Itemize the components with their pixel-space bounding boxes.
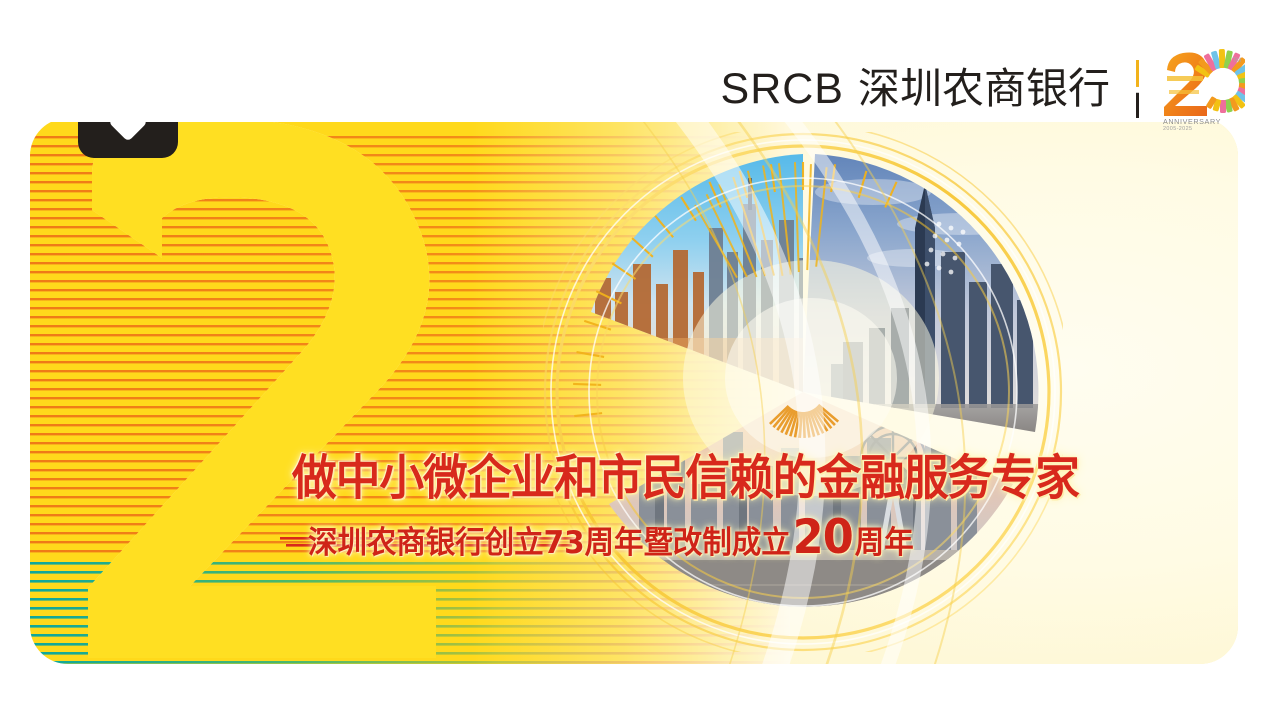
brand-latin-name: SRCB bbox=[721, 68, 844, 111]
anniversary-emblem-icon: TM ANNIVERSARY 2005-2025 bbox=[1159, 48, 1245, 130]
subtitle-prefix: 深圳农商银行创立73周年暨改制成立 bbox=[308, 528, 791, 559]
subtitle-suffix: 周年 bbox=[855, 528, 914, 559]
anniversary-poster: 做中小微企业和市民信赖的金融服务专家 深圳农商银行创立73周年暨改制成立 20 … bbox=[0, 0, 1267, 713]
subtitle-number: 20 bbox=[791, 514, 855, 561]
emblem-anniversary-label: ANNIVERSARY bbox=[1163, 117, 1221, 126]
brand-lockup: SRCB 深圳农商银行 bbox=[721, 48, 1245, 130]
gold-nugget-shape bbox=[500, 662, 685, 664]
poster-panel: 做中小微企业和市民信赖的金融服务专家 深圳农商银行创立73周年暨改制成立 20 … bbox=[30, 118, 1238, 664]
brand-chinese-name: 深圳农商银行 bbox=[858, 68, 1110, 110]
headline-block: 做中小微企业和市民信赖的金融服务专家 深圳农商银行创立73周年暨改制成立 20 … bbox=[292, 454, 1138, 561]
emblem-years: 2005-2025 bbox=[1163, 126, 1192, 130]
emblem-tm: TM bbox=[1232, 58, 1241, 64]
light-streaks bbox=[518, 118, 1238, 664]
brand-divider bbox=[1136, 60, 1139, 118]
page-subtitle: 深圳农商银行创立73周年暨改制成立 20 周年 bbox=[308, 514, 1097, 561]
page-title: 做中小微企业和市民信赖的金融服务专家 bbox=[292, 454, 1079, 502]
poster-header: SRCB 深圳农商银行 bbox=[0, 0, 1267, 122]
